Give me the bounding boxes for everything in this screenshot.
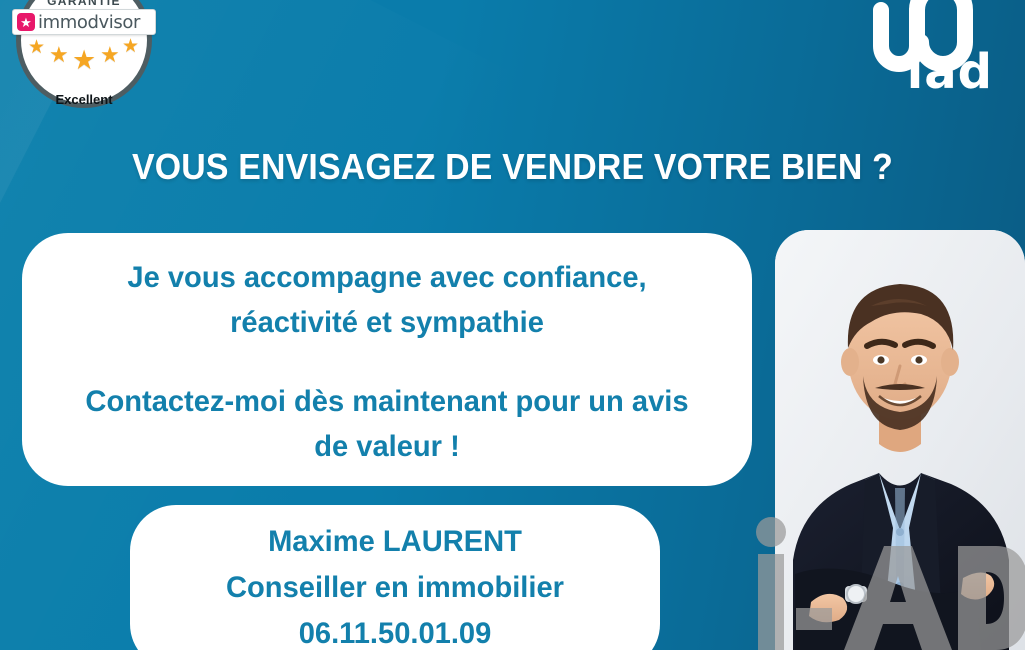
agent-phone[interactable]: 06.11.50.01.09 [138,611,652,650]
immodvisor-badge: GARANTIE ★ immodvisor ★ ★ ★ ★ ★ Excellen… [10,0,158,92]
iad-wordmark: iad [907,44,993,100]
star-icon-2: ★ [49,44,69,66]
badge-star-rating: ★ ★ ★ ★ ★ [16,34,152,66]
badge-guarantee-label: GARANTIE [10,0,158,8]
star-icon-5: ★ [122,37,139,56]
agent-portrait [775,230,1025,650]
message-line-2: réactivité et sympathie [33,300,741,345]
star-icon-3: ★ [72,47,96,74]
agent-role: Conseiller en immobilier [138,565,652,611]
marketing-poster: GARANTIE ★ immodvisor ★ ★ ★ ★ ★ Excellen… [0,0,1025,650]
immodvisor-wordmark: immodvisor [38,12,140,33]
star-icon-4: ★ [100,44,120,66]
immodvisor-logo: ★ immodvisor [12,9,156,35]
contact-card: Maxime LAURENT Conseiller en immobilier … [130,505,660,650]
message-card: Je vous accompagne avec confiance, réact… [22,233,752,486]
agent-name: Maxime LAURENT [138,519,652,565]
immodvisor-star-icon: ★ [17,13,35,31]
message-line-3: Contactez-moi dès maintenant pour un avi… [33,379,741,424]
message-line-1: Je vous accompagne avec confiance, [33,255,741,300]
message-spacer [22,345,752,379]
message-line-4: de valeur ! [33,424,741,469]
star-icon-1: ★ [28,38,45,57]
iad-logo: iad [863,0,999,100]
badge-rating-label: Excellent [10,92,158,107]
page-title: VOUS ENVISAGEZ DE VENDRE VOTRE BIEN ? [31,146,995,188]
